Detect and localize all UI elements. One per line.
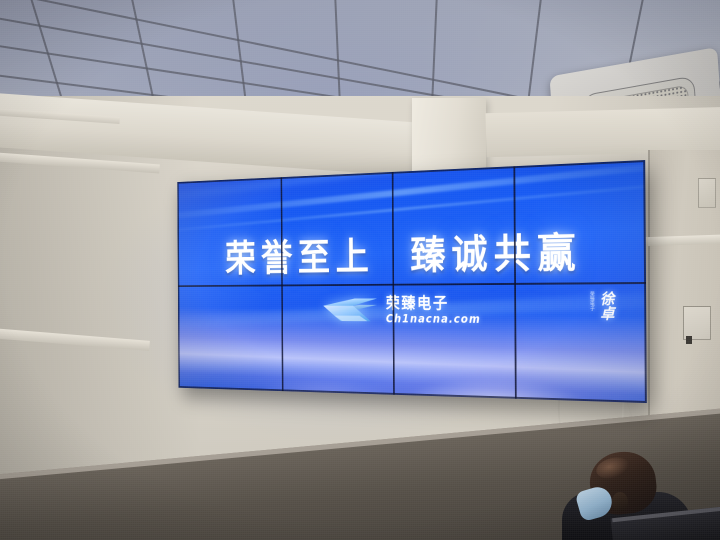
video-wall-surface: 荣誉至上 臻诚共赢 (177, 160, 647, 403)
person-ear (612, 492, 628, 512)
wall-plate-right[interactable] (683, 306, 711, 340)
wall-plate-upper-right[interactable] (698, 178, 716, 208)
wall-socket-icon (686, 336, 692, 344)
lcd-video-wall[interactable]: 荣誉至上 臻诚共赢 (177, 160, 647, 403)
video-wall-bezel (177, 160, 647, 403)
photo-scene: 荣誉至上 臻诚共赢 (0, 0, 720, 540)
